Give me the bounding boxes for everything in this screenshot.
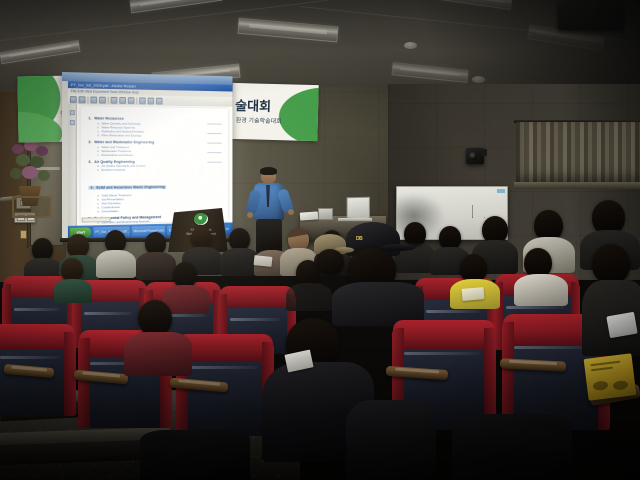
flower-arrangement xyxy=(8,140,56,212)
person-shoulders xyxy=(346,400,436,480)
toolbar-separator xyxy=(87,96,88,103)
university-emblem-icon xyxy=(194,213,208,225)
save-icon[interactable] xyxy=(70,96,77,103)
seat-highlight xyxy=(188,366,258,369)
section-title: Air Quality Engineering xyxy=(94,160,134,164)
page-margin-notes xyxy=(207,124,221,172)
booklet-graphic xyxy=(613,380,629,391)
window-curtain[interactable] xyxy=(516,122,640,184)
section-heading-highlighted-row: 4.Solid and Hazardous Waste Engineering xyxy=(88,175,222,194)
banner-title: 술대회 xyxy=(235,95,271,115)
banner-subtitle: 환경 기술학술대회 xyxy=(236,115,282,125)
bookmarks-panel-icon[interactable] xyxy=(70,120,75,125)
zoom-out-icon[interactable] xyxy=(111,96,118,103)
person-shoulders xyxy=(514,274,568,306)
seat-highlight xyxy=(0,356,60,359)
presenter-hand-right xyxy=(288,209,294,215)
audience-member-with-tan-cap xyxy=(310,234,354,282)
seat-top-trim xyxy=(219,286,295,308)
banner-swoosh xyxy=(265,83,319,141)
print-icon[interactable] xyxy=(79,96,86,103)
seat-highlight xyxy=(14,308,60,311)
ceiling-shadow xyxy=(390,0,640,92)
laptop-screen xyxy=(347,197,370,219)
person-shoulders xyxy=(286,283,332,311)
toolbar-separator xyxy=(108,96,109,103)
booklet-text-line xyxy=(590,361,620,367)
cap-logo-text: DB xyxy=(356,236,362,242)
ceiling-light xyxy=(0,40,80,64)
previous-page-icon[interactable] xyxy=(139,97,146,104)
conference-booklet xyxy=(584,353,637,401)
flower-petal xyxy=(22,166,38,179)
person-shoulders xyxy=(124,332,192,376)
audience-member xyxy=(56,258,90,300)
subitem-text: River Restoration and Ecology xyxy=(102,133,142,137)
seat-highlight xyxy=(506,306,564,309)
seat-highlight xyxy=(426,310,480,313)
subitem-text: Emission Analysis xyxy=(102,168,126,172)
flower-petal xyxy=(12,144,24,154)
audience-member xyxy=(516,248,562,300)
wall-speaker-icon xyxy=(466,148,484,164)
person-head xyxy=(316,249,344,275)
section-subitem: c.Reclamation and Reuse xyxy=(88,153,222,157)
next-page-icon[interactable] xyxy=(148,97,155,104)
ceiling-light xyxy=(130,0,223,13)
section-title: Solid and Hazardous Waste Engineering xyxy=(96,185,165,190)
whiteboard-corner-tab xyxy=(497,189,505,193)
pdf-page: 1.Water Resources a.Water Quantity and H… xyxy=(81,106,228,223)
section-subitem: b.Emission Analysis xyxy=(88,168,222,172)
banner-right: 술대회 환경 기술학술대회 xyxy=(231,83,318,141)
flower-petal xyxy=(36,146,48,156)
cap-brim xyxy=(380,244,416,251)
subitem-text: Reclamation and Reuse xyxy=(102,153,134,157)
person-shoulders xyxy=(452,414,572,480)
person-head xyxy=(592,244,630,284)
audience-member-front xyxy=(346,400,436,480)
document-area[interactable]: 1.Water Resources a.Water Quantity and H… xyxy=(68,104,233,226)
fit-page-icon[interactable] xyxy=(128,97,135,104)
audience-member xyxy=(100,230,132,276)
ceiling-light xyxy=(237,18,338,43)
person-shoulders xyxy=(140,430,250,480)
audience-member-front xyxy=(140,430,250,480)
toolbar-separator xyxy=(136,97,137,104)
select-tool-icon[interactable] xyxy=(99,96,106,103)
flower-leaf xyxy=(10,168,22,179)
paper-sheet xyxy=(300,211,319,220)
page-number-box[interactable] xyxy=(82,217,111,223)
presenter-hair xyxy=(260,167,277,175)
person-shoulders xyxy=(96,250,136,278)
booklet-graphic xyxy=(592,380,608,391)
paper-handout xyxy=(254,255,273,267)
seat-highlight xyxy=(404,352,480,355)
plaque-frame xyxy=(12,196,52,218)
audience-member xyxy=(224,228,256,276)
seat-highlight xyxy=(84,312,132,315)
audience-member-front xyxy=(130,300,186,374)
section-subitem: d.River Restoration and Ecology xyxy=(88,133,222,138)
pages-panel-icon[interactable] xyxy=(70,110,75,115)
subitem-text: Groundwater xyxy=(102,209,119,213)
laptop-keyboard[interactable] xyxy=(338,218,373,221)
section-title: Water and Wastewater Engineering xyxy=(94,140,154,144)
presenter-hand-left xyxy=(247,212,253,218)
booklet-text-line xyxy=(591,367,613,372)
section-heading-highlighted: 4.Solid and Hazardous Waste Engineering xyxy=(88,185,166,190)
person-shoulders xyxy=(54,279,92,303)
window-sill xyxy=(514,182,640,189)
audience-member-front xyxy=(452,414,572,480)
zoom-in-icon[interactable] xyxy=(119,97,126,104)
seat-side xyxy=(78,338,90,428)
paper-handout xyxy=(462,287,485,301)
search-icon[interactable] xyxy=(156,97,163,104)
person-head xyxy=(138,300,172,336)
lecture-hall-photo: 2 일시 술대회 환경 기술학술대회 PT_0xx_list_2009.pdf … xyxy=(0,0,640,480)
flower-leaf xyxy=(16,154,30,166)
flower-leaf xyxy=(38,170,50,181)
secondary-laptop xyxy=(318,208,333,220)
seat-top-trim xyxy=(393,320,495,350)
navigation-sidebar[interactable] xyxy=(68,104,77,226)
hand-tool-icon[interactable] xyxy=(90,96,97,103)
